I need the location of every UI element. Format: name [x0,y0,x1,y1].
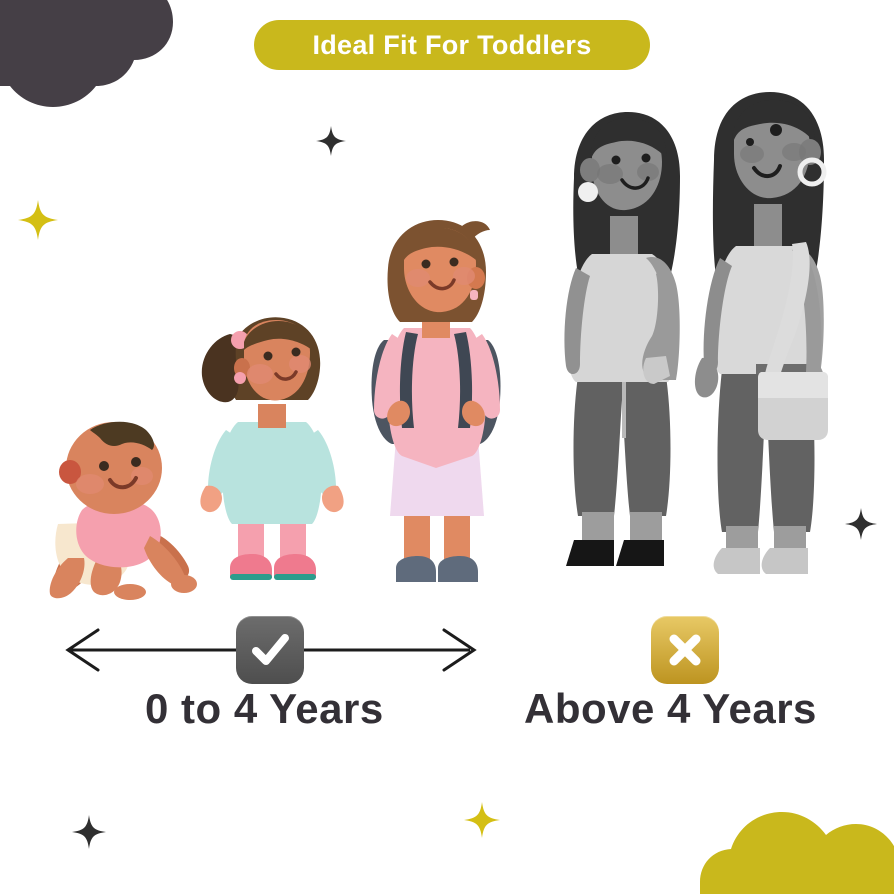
figure-group [0,0,894,600]
figure-schoolgirl-with-backpack [356,216,516,600]
cross-icon [666,631,704,669]
cross-badge [651,616,719,684]
figure-grey-teen-hands-in-pockets [548,108,698,600]
age-range-label-rejected: Above 4 Years [524,685,817,733]
cloud-bottom-right-icon [700,794,894,894]
sparkle-bottom-left-icon [72,815,106,849]
sparkle-bottom-center-icon [464,802,500,838]
illustration-canvas: Ideal Fit For Toddlers [0,0,894,894]
age-range-label-approved: 0 to 4 Years [145,685,384,733]
figure-grey-teen-with-shoulder-bag [684,86,844,600]
check-badge [236,616,304,684]
figure-standing-toddler [192,312,352,600]
figure-crawling-baby [38,418,208,600]
check-icon [249,629,291,671]
age-range-arrow [0,612,894,692]
